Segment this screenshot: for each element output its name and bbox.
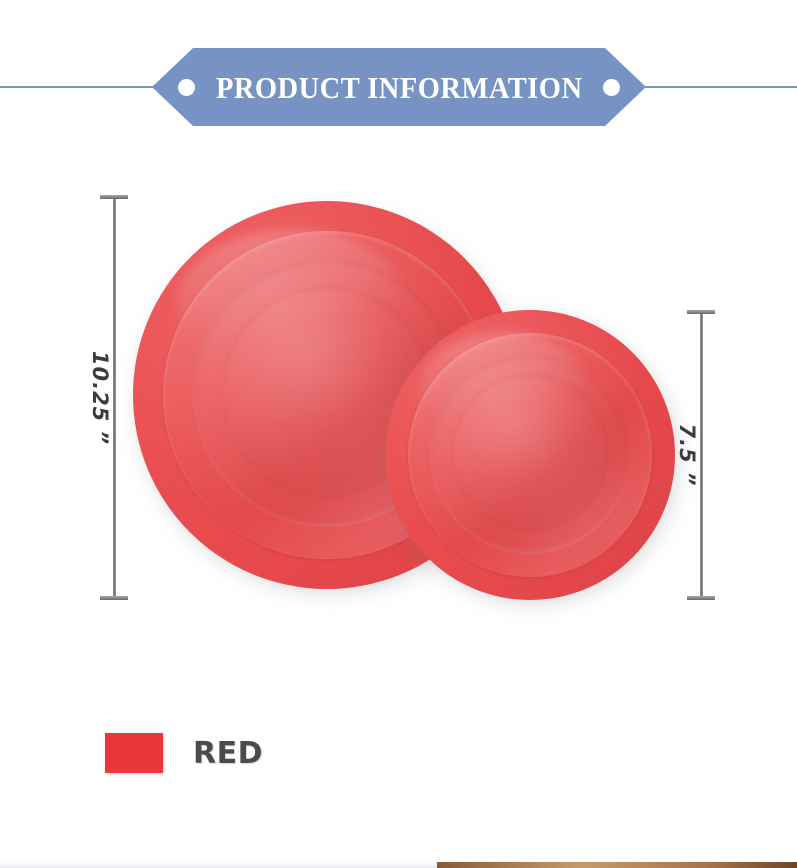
tag-eyelet-right-icon (603, 79, 620, 96)
page-title: PRODUCT INFORMATION (216, 72, 583, 103)
dimension-label-large: 10.25 ” (88, 350, 112, 444)
dimension-label-wrap: 7.5 ” (635, 435, 739, 475)
header-tag-banner: PRODUCT INFORMATION (152, 48, 646, 126)
dimension-large-plate: 10.25 ” (100, 195, 128, 600)
dimension-cap-bottom (100, 596, 128, 600)
product-information-page: PRODUCT INFORMATION 10.25 ” (0, 0, 797, 868)
tag-eyelet-left-icon (178, 79, 195, 96)
dimension-cap-top (687, 310, 715, 314)
salad-plate-image (385, 310, 675, 600)
next-section-sliver-left (0, 862, 437, 868)
dimension-label-wrap: 10.25 ” (48, 378, 152, 418)
dimension-cap-top (100, 195, 128, 199)
dimension-small-plate: 7.5 ” (687, 310, 715, 600)
dimension-cap-bottom (687, 596, 715, 600)
color-swatch-row: RED (105, 733, 263, 773)
next-section-sliver (0, 862, 797, 868)
section-header: PRODUCT INFORMATION (0, 40, 797, 134)
color-swatch-red (105, 733, 163, 773)
dimension-label-small: 7.5 ” (675, 423, 699, 486)
salad-plate-center (451, 374, 609, 532)
next-section-sliver-right (437, 862, 797, 868)
color-swatch-label: RED (193, 736, 263, 771)
